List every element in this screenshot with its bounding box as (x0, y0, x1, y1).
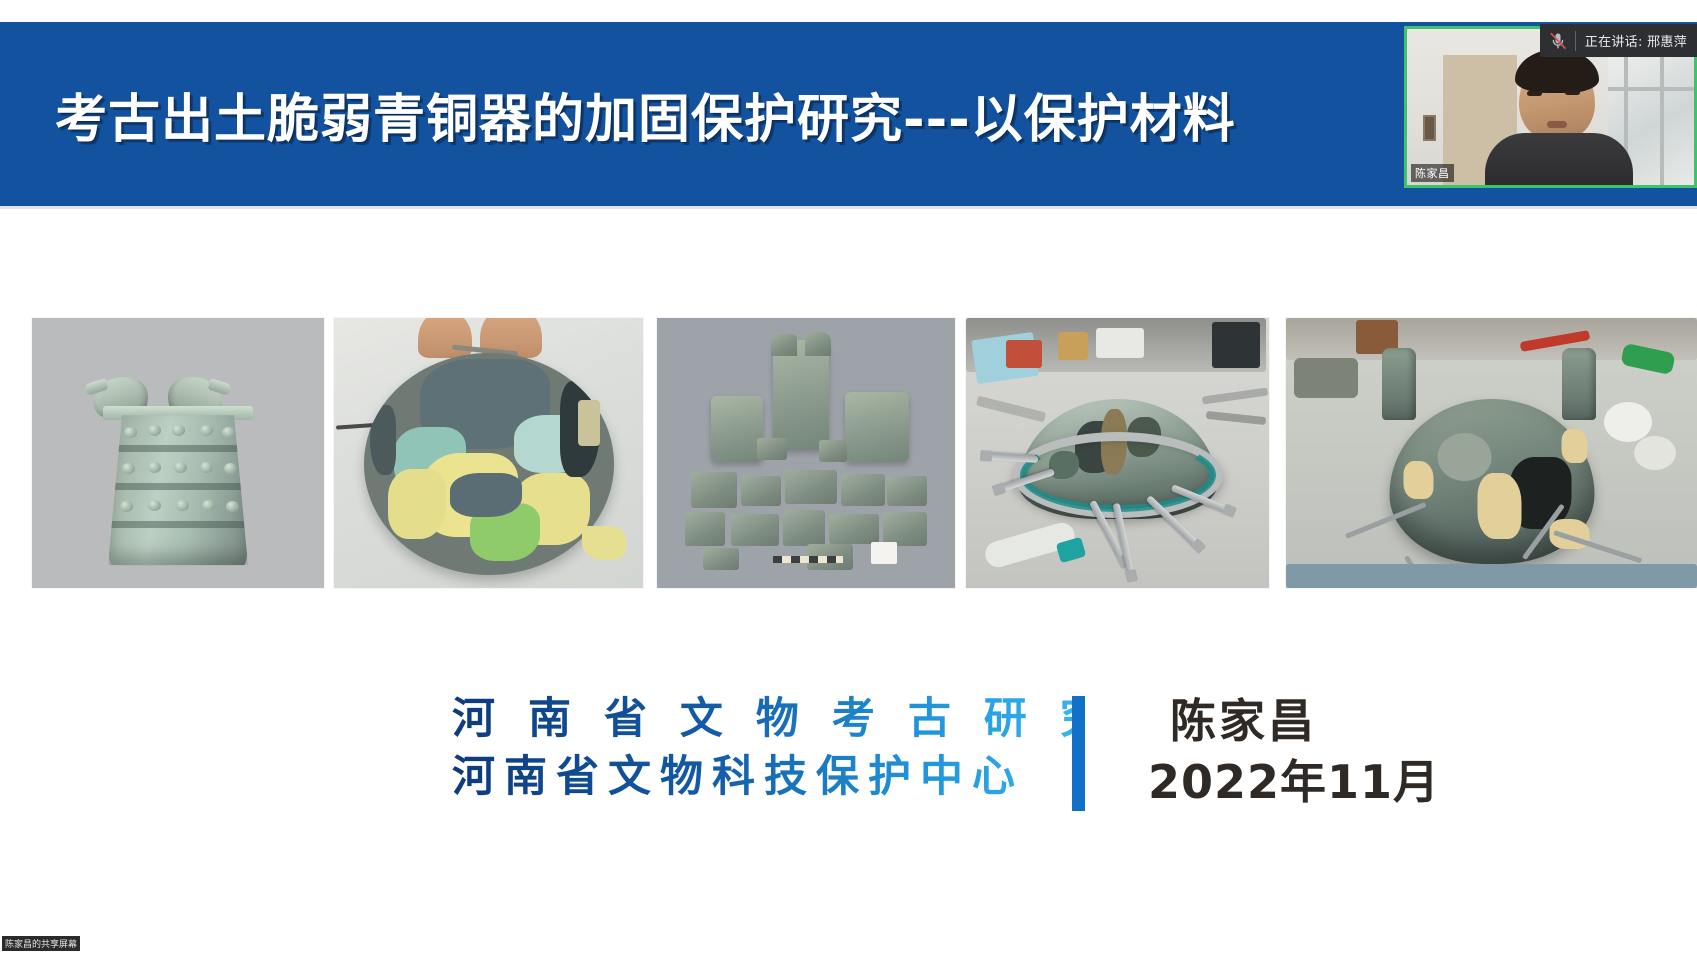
presenter-name: 陈家昌 (1170, 690, 1568, 752)
photo-bronze-bell (32, 318, 324, 588)
organization-line-1: 河 南 省 文 物 考 古 研 究 院 (452, 690, 1072, 748)
photo-vessel-with-legs (1286, 318, 1697, 588)
zoom-shared-screen: 考古出土脆弱青铜器的加固保护研究---以保护材料 (0, 0, 1697, 954)
speaking-label: 正在讲话: 邢惠萍 (1585, 31, 1687, 50)
slide-bottom-margin (0, 918, 1697, 954)
photo-bronze-fragments (657, 318, 955, 588)
presentation-date: 2022年11月 (1148, 752, 1568, 812)
identity-divider (1072, 696, 1085, 811)
slide-title: 考古出土脆弱青铜器的加固保护研究---以保护材料 (55, 77, 1236, 152)
slide-photo-strip (0, 318, 1697, 588)
slide-identity-block: 河 南 省 文 物 考 古 研 究 院 河南省文物科技保护中心 陈家昌 2022… (0, 690, 1697, 870)
organization-block: 河 南 省 文 物 考 古 研 究 院 河南省文物科技保护中心 (452, 690, 1072, 806)
photo-vessel-clamp-ring (966, 318, 1269, 588)
mic-muted-icon (1548, 30, 1568, 52)
speaking-indicator: 正在讲话: 邢惠萍 (1540, 24, 1697, 57)
photo-circular-artifact-consolidation (334, 318, 643, 588)
organization-line-2: 河南省文物科技保护中心 (452, 748, 1072, 806)
share-watermark: 陈家昌的共享屏幕 (2, 936, 80, 951)
pill-separator (1575, 31, 1576, 51)
participant-name-label: 陈家昌 (1411, 164, 1454, 182)
presenter-block: 陈家昌 2022年11月 (1148, 690, 1568, 812)
